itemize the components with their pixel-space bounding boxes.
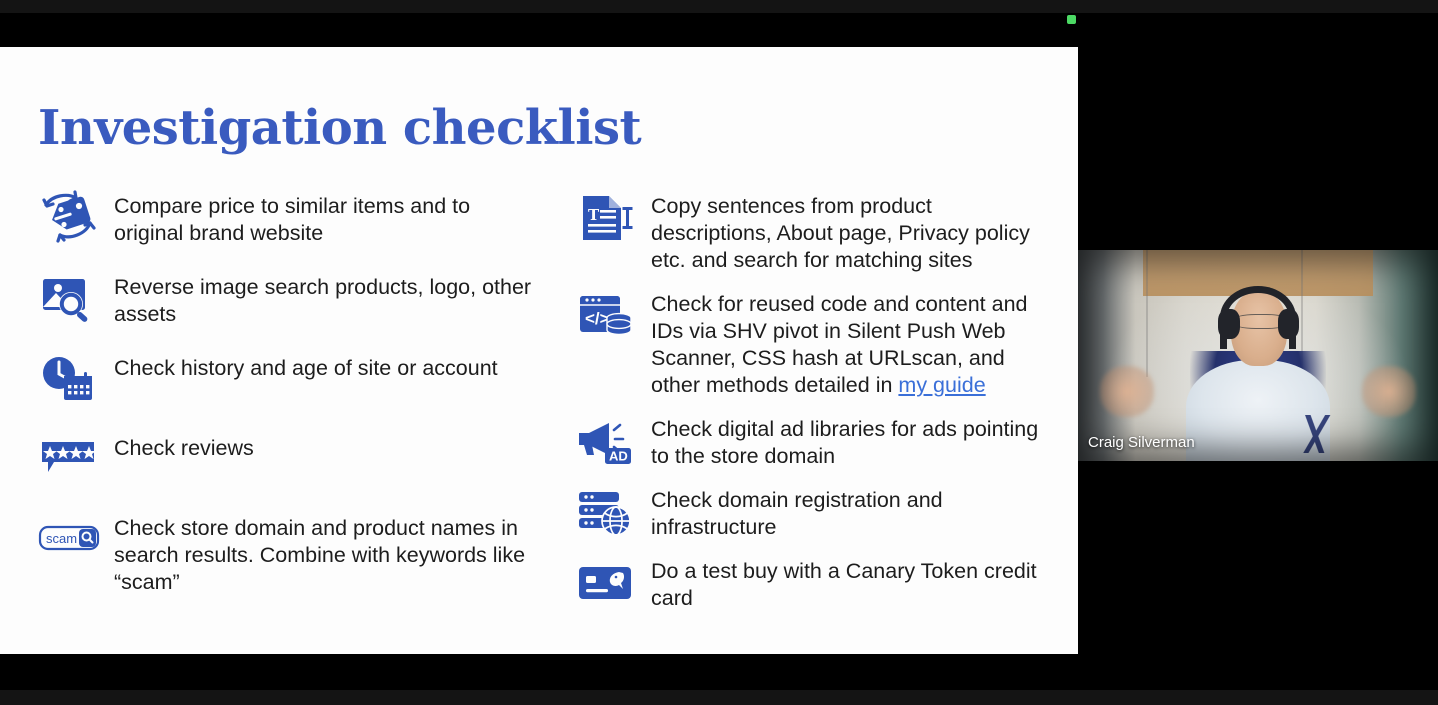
checklist-item-text: Check history and age of site or account [114,352,498,382]
checklist-item: Reverse image search products, logo, oth… [38,271,538,328]
checklist-item: Check reviews [38,432,538,488]
window-top-bar [0,0,1438,13]
megaphone-ad-label: AD [609,449,628,464]
meeting-screen: Investigation checklist [0,0,1438,705]
document-text-icon: T [575,190,637,246]
svg-text:T: T [588,206,600,224]
checklist-item-text: Copy sentences from product descriptions… [651,190,1055,274]
checklist-item-text: Check domain registration and infrastruc… [651,484,1055,541]
price-tag-compare-icon [38,190,100,246]
checklist-item: AD Check digital ad libraries for ads po… [575,413,1055,470]
my-guide-link[interactable]: my guide [898,373,985,397]
participant-name-label: Craig Silverman [1088,434,1195,451]
search-box-scam-label: scam [46,531,77,546]
checklist-item-text: Do a test buy with a Canary Token credit… [651,555,1055,612]
review-stars-bubble-icon [38,432,100,488]
checklist-item: T Copy sentence [575,190,1055,274]
checklist-item: Check history and age of site or account [38,352,538,408]
server-globe-icon [575,484,637,540]
checklist-item-text: Reverse image search products, logo, oth… [114,271,538,328]
checklist-left-column: Compare price to similar items and to or… [38,190,538,616]
checklist-item-text: Check digital ad libraries for ads point… [651,413,1055,470]
slide-title: Investigation checklist [38,100,641,156]
checklist-item-text: Compare price to similar items and to or… [114,190,538,247]
recording-status-dot [1067,15,1076,24]
credit-card-canary-icon [575,555,637,611]
checklist-item: Check domain registration and infrastruc… [575,484,1055,541]
presentation-slide[interactable]: Investigation checklist [0,47,1078,654]
checklist-item-text: Check for reused code and content and ID… [651,288,1055,399]
checklist-right-column: T Copy sentence [575,190,1055,632]
checklist-item: </> Check for reused code and content an… [575,288,1055,399]
svg-text:</>: </> [585,309,610,328]
video-vignette [1078,250,1438,461]
megaphone-ad-icon: AD [575,413,637,469]
reverse-image-search-icon [38,271,100,327]
checklist-item-text: Check store domain and product names in … [114,512,538,596]
window-bottom-bar [0,690,1438,705]
checklist-item-text: Check reviews [114,432,254,462]
checklist-item: Do a test buy with a Canary Token credit… [575,555,1055,612]
clock-calendar-icon [38,352,100,408]
checklist-item: Compare price to similar items and to or… [38,190,538,247]
search-box-scam-icon: scam [38,512,100,568]
checklist-item: scam Check store domain and product name… [38,512,538,596]
code-database-icon: </> [575,288,637,344]
participant-video-tile[interactable]: Craig Silverman [1078,250,1438,461]
